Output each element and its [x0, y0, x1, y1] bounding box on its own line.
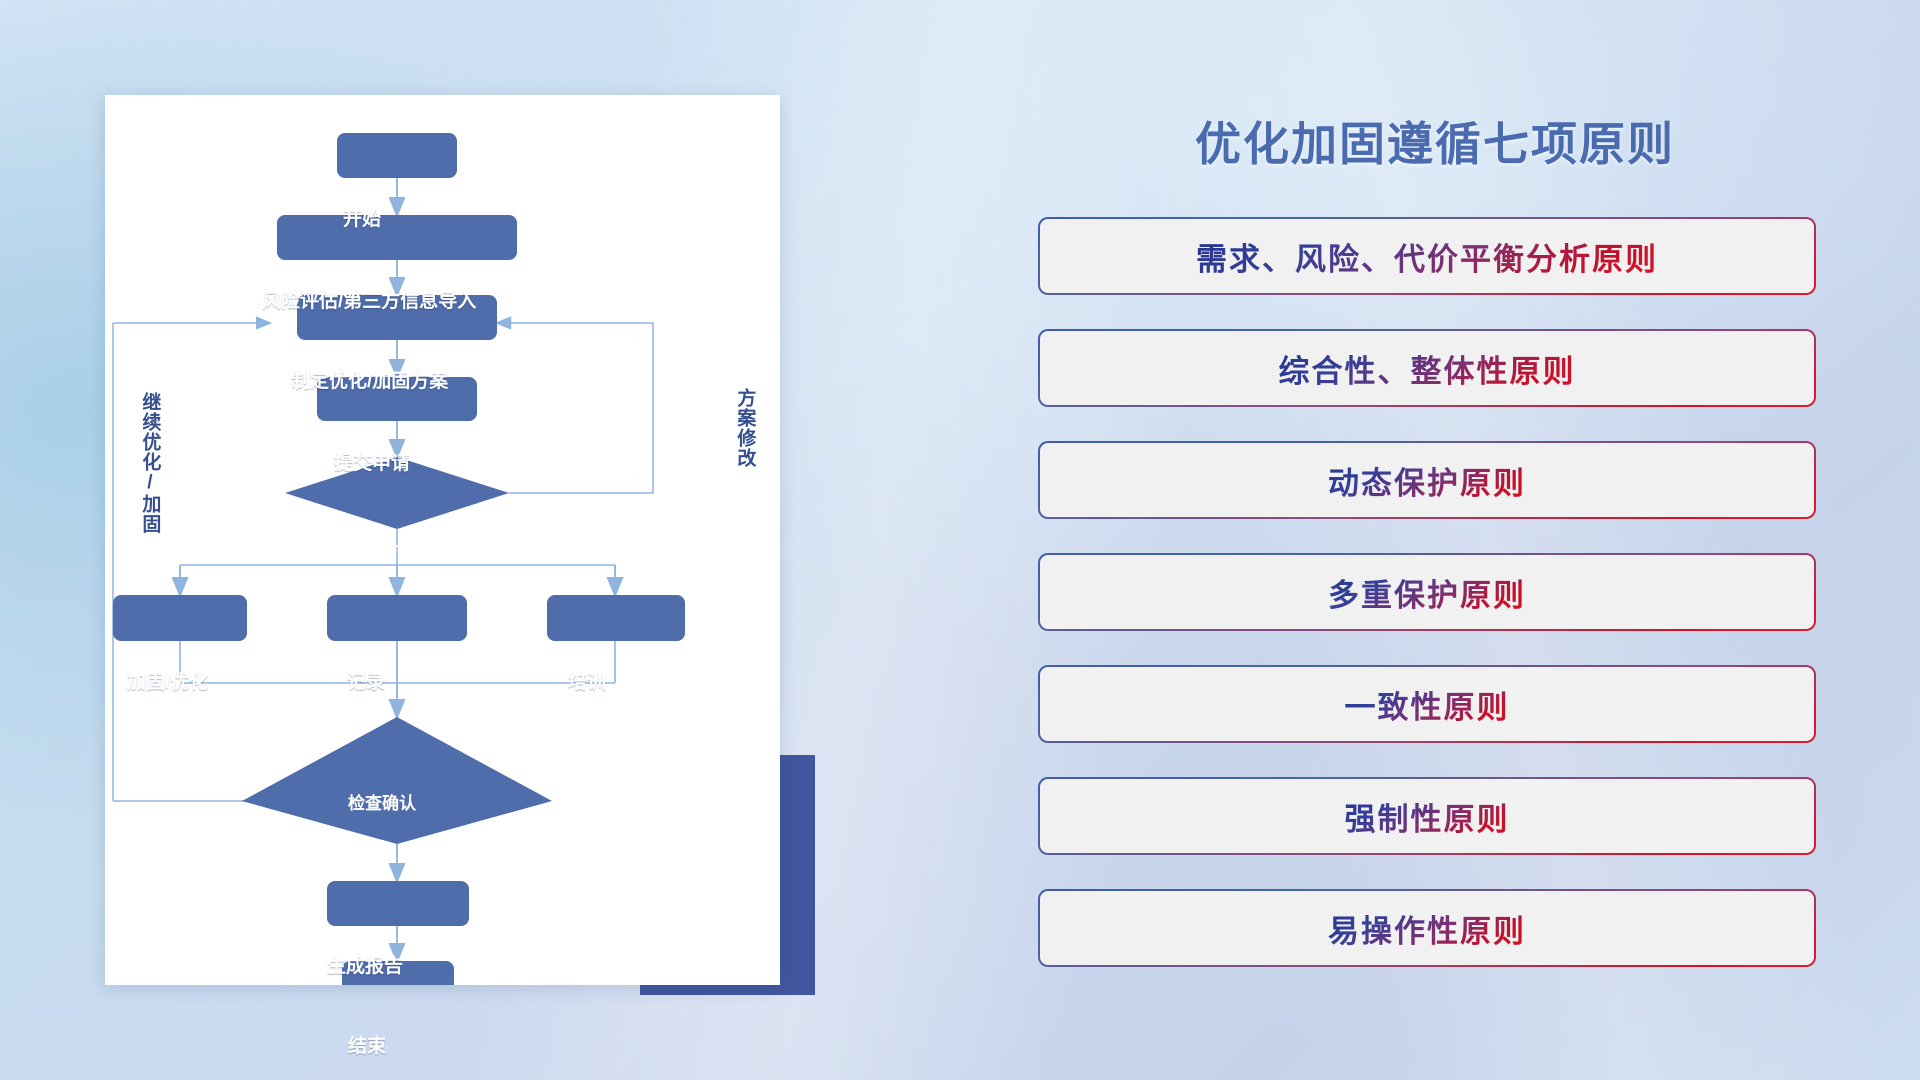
principle-box-inner: 综合性、整体性原则 — [1040, 331, 1814, 405]
node-record — [327, 595, 467, 641]
principle-label: 强制性原则 — [1345, 794, 1510, 839]
flowchart-diagram — [105, 95, 780, 985]
principle-row[interactable]: 易操作性原则 — [1020, 889, 1850, 984]
node-start — [337, 133, 457, 178]
principle-row[interactable]: 综合性、整体性原则 — [1020, 329, 1850, 424]
panel-title: 优化加固遵循七项原则 — [1020, 108, 1850, 174]
principle-box[interactable]: 多重保护原则 — [1038, 553, 1816, 631]
principle-box[interactable]: 动态保护原则 — [1038, 441, 1816, 519]
principle-box[interactable]: 易操作性原则 — [1038, 889, 1816, 967]
principle-label: 需求、风险、代价平衡分析原则 — [1196, 234, 1658, 279]
node-owner-confirm — [285, 457, 509, 529]
node-end — [342, 961, 454, 985]
edge-label-plan-revision: 方案修改 — [735, 388, 754, 468]
principle-row[interactable]: 动态保护原则 — [1020, 441, 1850, 536]
node-plan — [297, 295, 497, 340]
principle-row[interactable]: 多重保护原则 — [1020, 553, 1850, 648]
node-reinforce — [113, 595, 247, 641]
node-training — [547, 595, 685, 641]
principle-label: 一致性原则 — [1345, 682, 1510, 727]
principle-box[interactable]: 需求、风险、代价平衡分析原则 — [1038, 217, 1816, 295]
principle-label: 多重保护原则 — [1328, 570, 1526, 615]
node-report — [327, 881, 469, 926]
principle-label: 综合性、整体性原则 — [1279, 346, 1576, 391]
edge-label-continue-optimize: 继续优化/加固 — [140, 392, 159, 534]
principle-box[interactable]: 强制性原则 — [1038, 777, 1816, 855]
principle-row[interactable]: 需求、风险、代价平衡分析原则 — [1020, 217, 1850, 312]
principle-label: 易操作性原则 — [1328, 906, 1526, 951]
principle-box-inner: 需求、风险、代价平衡分析原则 — [1040, 219, 1814, 293]
principle-row[interactable]: 强制性原则 — [1020, 777, 1850, 872]
principle-box-inner: 易操作性原则 — [1040, 891, 1814, 965]
principle-box-inner: 强制性原则 — [1040, 779, 1814, 853]
node-check-confirm — [242, 717, 552, 844]
principle-row[interactable]: 一致性原则 — [1020, 665, 1850, 760]
principle-box[interactable]: 综合性、整体性原则 — [1038, 329, 1816, 407]
principle-box-inner: 动态保护原则 — [1040, 443, 1814, 517]
principle-box-inner: 多重保护原则 — [1040, 555, 1814, 629]
principle-box-inner: 一致性原则 — [1040, 667, 1814, 741]
principle-label: 动态保护原则 — [1328, 458, 1526, 503]
principles-panel: 优化加固遵循七项原则 需求、风险、代价平衡分析原则 综合性、整体性原则 动态保护… — [1020, 80, 1850, 1030]
node-submit — [317, 377, 477, 421]
principle-box[interactable]: 一致性原则 — [1038, 665, 1816, 743]
node-risk-assessment — [277, 215, 517, 260]
principles-list: 需求、风险、代价平衡分析原则 综合性、整体性原则 动态保护原则 多重保护原则 — [1020, 217, 1850, 1001]
